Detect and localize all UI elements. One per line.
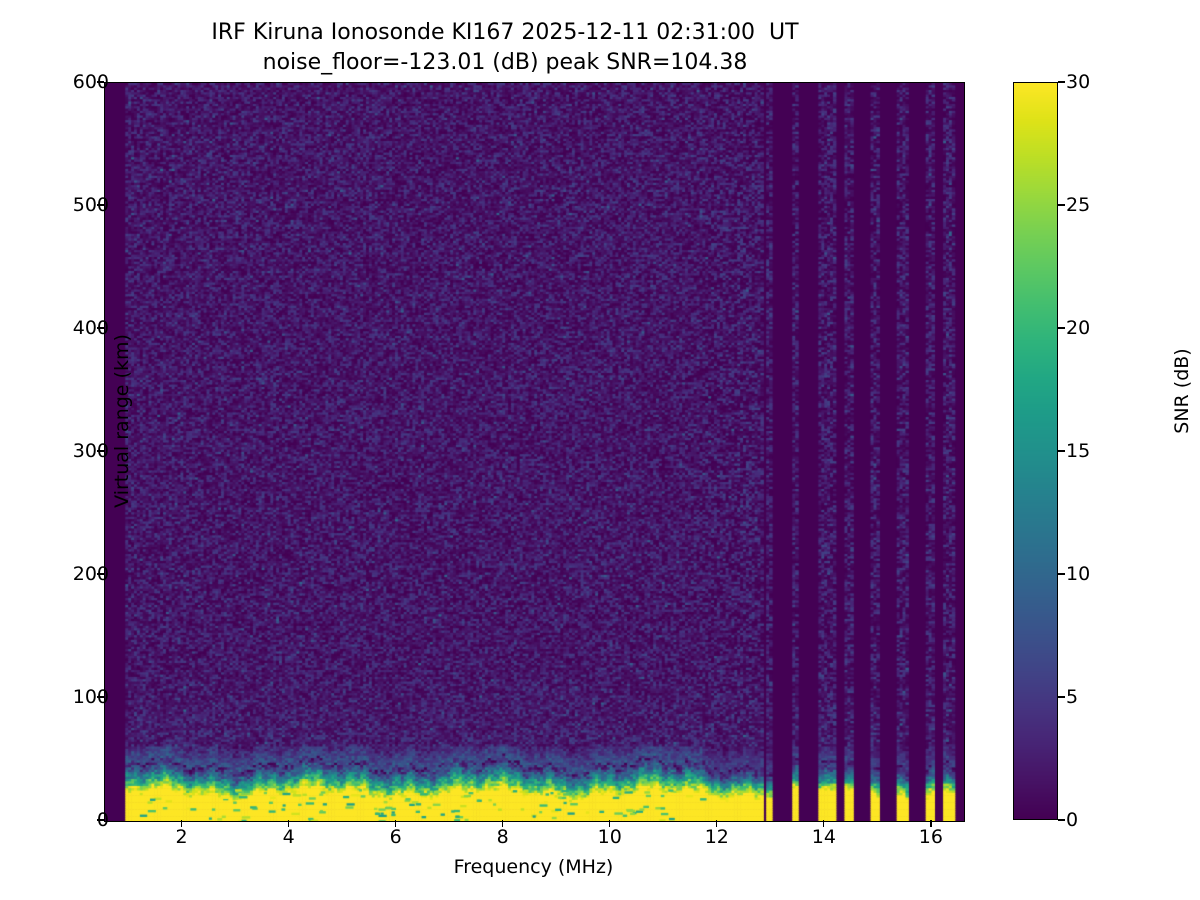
colorbar-tick-mark [1058, 204, 1065, 205]
y-tick-mark [97, 450, 104, 451]
colorbar-tick-mark [1058, 81, 1065, 82]
colorbar-tick-mark [1058, 450, 1065, 451]
x-tick-mark [395, 820, 396, 827]
x-tick-mark [716, 820, 717, 827]
ionogram-figure: IRF Kiruna Ionosonde KI167 2025-12-11 02… [0, 0, 1200, 900]
colorbar-tick-mark [1058, 327, 1065, 328]
colorbar: 051015202530 [1013, 82, 1058, 820]
y-tick-mark [97, 819, 104, 820]
x-tick-label: 16 [891, 828, 971, 847]
y-tick-mark [97, 204, 104, 205]
colorbar-tick-label: 25 [1066, 196, 1090, 215]
title-line-2: noise_floor=-123.01 (dB) peak SNR=104.38 [0, 48, 1010, 78]
colorbar-tick-mark [1058, 696, 1065, 697]
y-tick-label: 500 [0, 196, 109, 215]
ionogram-plot-area [104, 82, 965, 822]
x-tick-label: 2 [142, 828, 222, 847]
x-tick-mark [181, 820, 182, 827]
colorbar-label: SNR (dB) [1171, 291, 1193, 491]
x-tick-mark [609, 820, 610, 827]
y-tick-label: 400 [0, 319, 109, 338]
x-tick-label: 12 [677, 828, 757, 847]
x-tick-mark [288, 820, 289, 827]
figure-title: IRF Kiruna Ionosonde KI167 2025-12-11 02… [0, 18, 1010, 78]
y-tick-mark [97, 327, 104, 328]
colorbar-tick-mark [1058, 573, 1065, 574]
y-tick-label: 600 [0, 73, 109, 92]
x-tick-label: 10 [570, 828, 650, 847]
colorbar-tick-mark [1058, 819, 1065, 820]
x-tick-mark [930, 820, 931, 827]
y-tick-label: 100 [0, 688, 109, 707]
colorbar-tick-label: 5 [1066, 688, 1078, 707]
ionogram-heatmap [105, 83, 964, 821]
colorbar-tick-label: 10 [1066, 565, 1090, 584]
x-tick-label: 4 [249, 828, 329, 847]
x-tick-mark [502, 820, 503, 827]
x-tick-mark [823, 820, 824, 827]
x-tick-label: 8 [463, 828, 543, 847]
y-tick-mark [97, 81, 104, 82]
colorbar-tick-label: 20 [1066, 319, 1090, 338]
y-tick-label: 0 [0, 811, 109, 830]
x-axis-label: Frequency (MHz) [104, 856, 963, 878]
x-tick-label: 6 [356, 828, 436, 847]
colorbar-tick-label: 0 [1066, 811, 1078, 830]
title-line-1: IRF Kiruna Ionosonde KI167 2025-12-11 02… [0, 18, 1010, 48]
y-tick-label: 300 [0, 442, 109, 461]
y-axis-label: Virtual range (km) [111, 291, 133, 551]
y-tick-mark [97, 696, 104, 697]
colorbar-gradient [1013, 82, 1058, 820]
y-tick-mark [97, 573, 104, 574]
colorbar-tick-label: 30 [1066, 73, 1090, 92]
y-tick-label: 200 [0, 565, 109, 584]
x-tick-label: 14 [784, 828, 864, 847]
colorbar-tick-label: 15 [1066, 442, 1090, 461]
